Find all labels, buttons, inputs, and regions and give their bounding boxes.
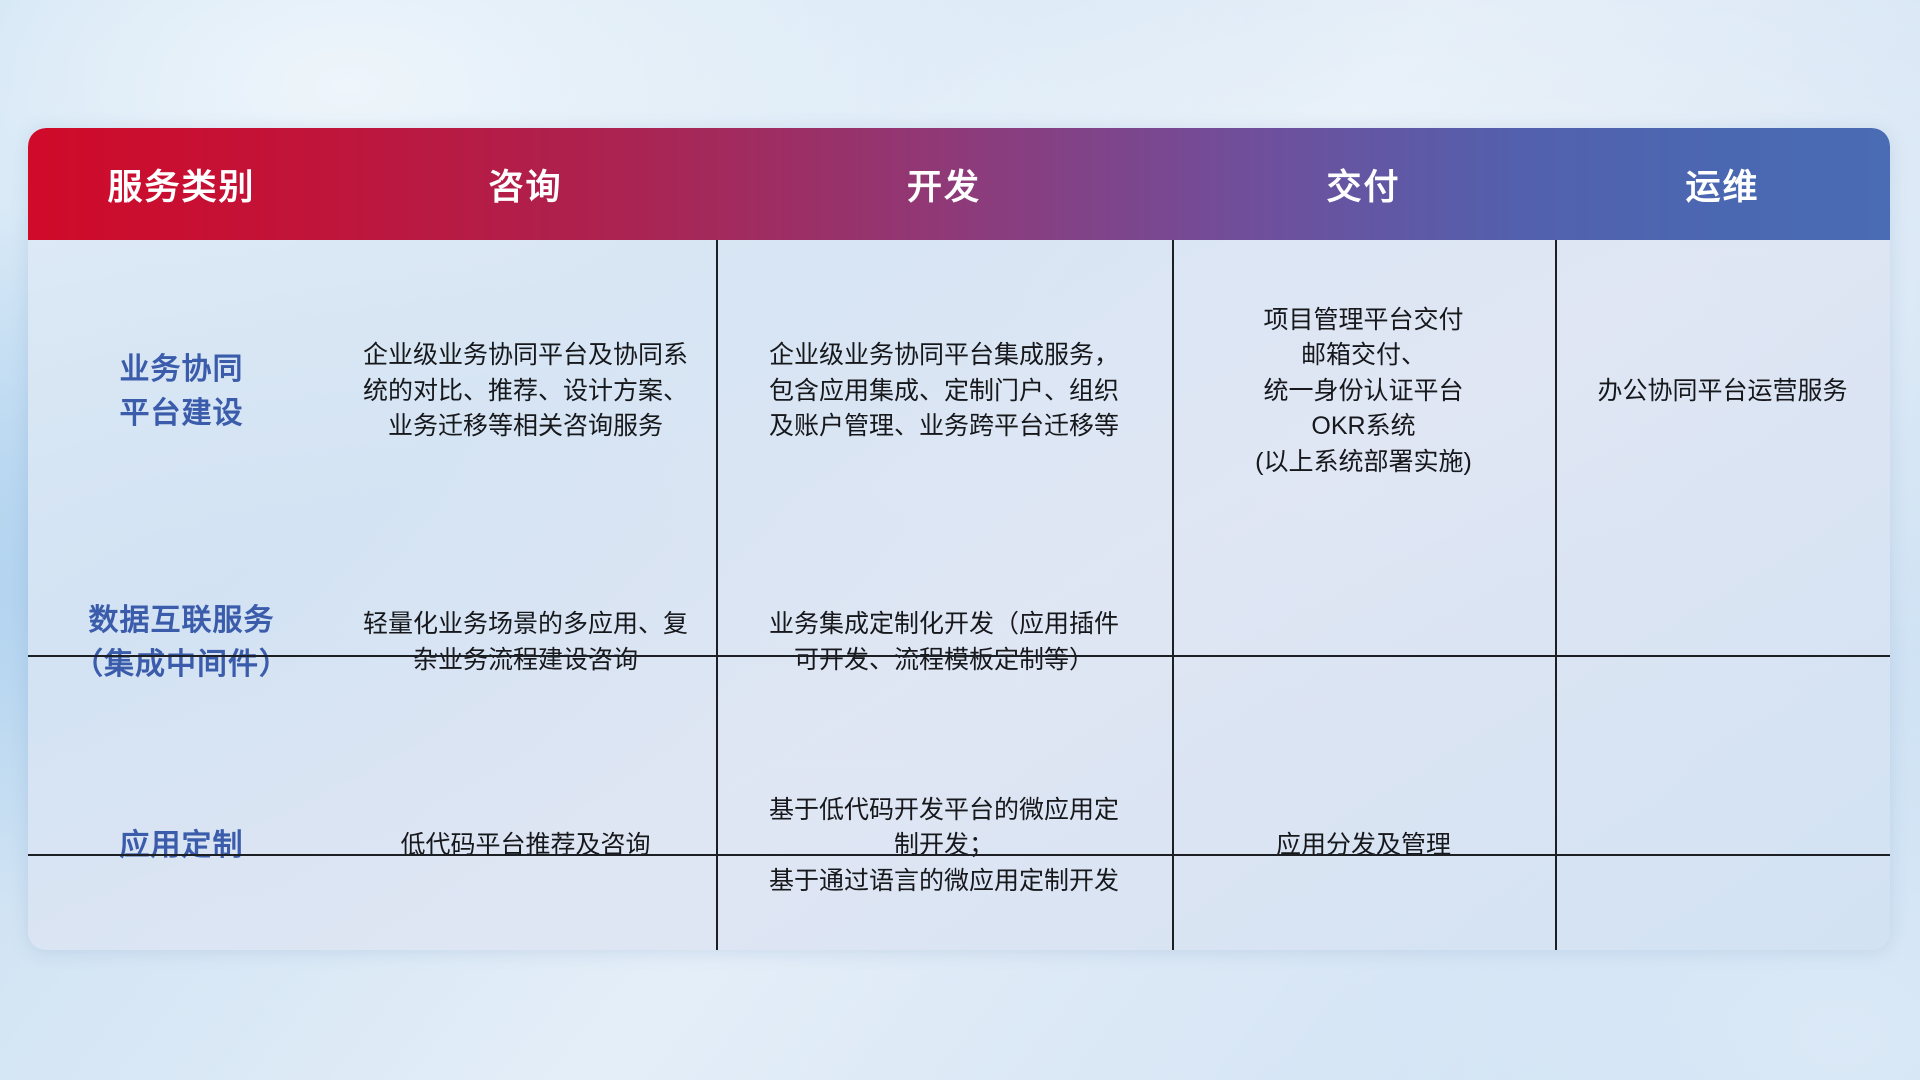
cell-operations-row-0: 办公协同平台运营服务 [1555,240,1890,543]
cell-development-row-1: 业务集成定制化开发（应用插件 可开发、流程模板定制等） [716,543,1172,742]
column-header-operations: 运维 [1555,128,1890,240]
row-label-app-customization: 应用定制 [28,742,335,950]
cell-delivery-row-0: 项目管理平台交付 邮箱交付、 统一身份认证平台 OKR系统 (以上系统部署实施) [1172,240,1555,543]
table-body: 业务协同 平台建设 企业级业务协同平台及协同系 统的对比、推荐、设计方案、 业务… [28,240,1890,950]
table-row: 应用定制 低代码平台推荐及咨询 基于低代码开发平台的微应用定 制开发； 基于通过… [28,742,1890,950]
cell-consulting-row-2: 低代码平台推荐及咨询 [335,742,716,950]
table-row: 数据互联服务 （集成中间件） 轻量化业务场景的多应用、复 杂业务流程建设咨询 业… [28,543,1890,742]
row-label-data-interconnect: 数据互联服务 （集成中间件） [28,543,335,742]
column-header-service-category: 服务类别 [28,128,335,240]
table-header-row: 服务类别 咨询 开发 交付 运维 [28,128,1890,240]
cell-development-row-2: 基于低代码开发平台的微应用定 制开发； 基于通过语言的微应用定制开发 [716,742,1172,950]
table-row: 业务协同 平台建设 企业级业务协同平台及协同系 统的对比、推荐、设计方案、 业务… [28,240,1890,543]
cell-delivery-row-2: 应用分发及管理 [1172,742,1555,950]
cell-operations-row-2 [1555,742,1890,950]
column-header-development: 开发 [716,128,1172,240]
cell-development-row-0: 企业级业务协同平台集成服务， 包含应用集成、定制门户、组织 及账户管理、业务跨平… [716,240,1172,543]
row-label-business-collaboration: 业务协同 平台建设 [28,240,335,543]
service-matrix-table: 服务类别 咨询 开发 交付 运维 业务协同 平台建设 企业级业务协同平台及协同系… [28,128,1890,950]
column-header-consulting: 咨询 [335,128,716,240]
cell-consulting-row-0: 企业级业务协同平台及协同系 统的对比、推荐、设计方案、 业务迁移等相关咨询服务 [335,240,716,543]
column-header-delivery: 交付 [1172,128,1555,240]
cell-delivery-row-1 [1172,543,1555,742]
cell-operations-row-1 [1555,543,1890,742]
cell-consulting-row-1: 轻量化业务场景的多应用、复 杂业务流程建设咨询 [335,543,716,742]
